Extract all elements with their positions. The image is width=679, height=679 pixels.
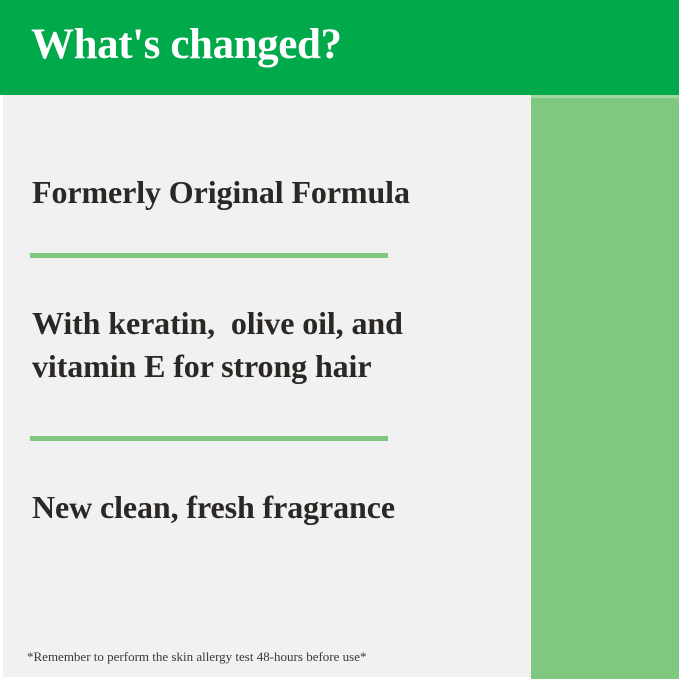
list-item: New clean, fresh fragrance: [32, 486, 507, 529]
list-item-label: Formerly Original Formula: [32, 171, 507, 214]
list-item: With keratin, olive oil, and vitamin E f…: [32, 302, 507, 388]
header-band: What's changed?: [0, 0, 679, 95]
list-item: Formerly Original Formula: [32, 171, 507, 214]
product-change-infographic: What's changed? Formerly Original Formul…: [0, 0, 679, 679]
divider: [30, 436, 388, 441]
list-item-label: With keratin, olive oil, and vitamin E f…: [32, 302, 507, 388]
right-accent-panel: [531, 95, 679, 679]
list-item-label: New clean, fresh fragrance: [32, 486, 507, 529]
right-accent-panel-highlight: [531, 95, 679, 98]
content-area: Formerly Original Formula With keratin, …: [0, 95, 531, 679]
footnote-disclaimer: *Remember to perform the skin allergy te…: [27, 648, 366, 665]
divider: [30, 253, 388, 258]
page-title: What's changed?: [31, 21, 342, 69]
